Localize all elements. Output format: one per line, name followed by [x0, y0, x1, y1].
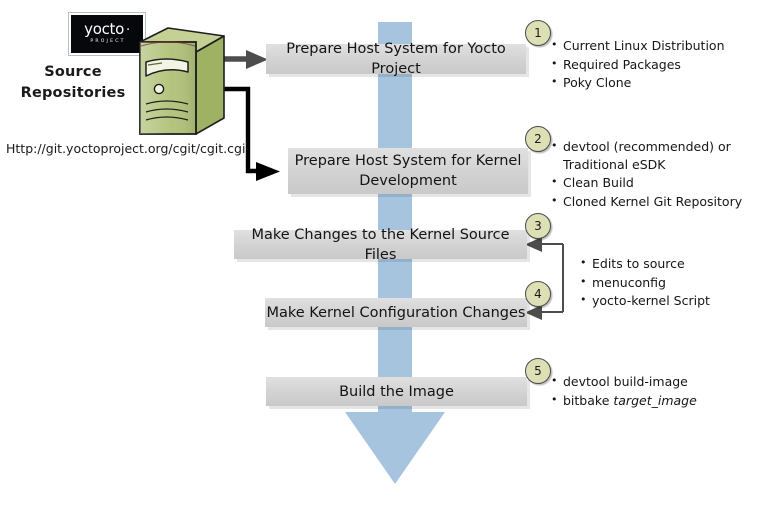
workflow-diagram: yocto· PROJECT Source Repositories Http:… [0, 0, 769, 517]
step-number-2-text: 2 [534, 132, 542, 146]
list-item: bitbake target_image [551, 392, 763, 410]
list-item: Current Linux Distribution [551, 37, 763, 55]
step-number-1-text: 1 [534, 26, 542, 40]
step-number-4: 4 [525, 281, 551, 307]
source-title-line2: Repositories [6, 83, 140, 104]
step-number-4-text: 4 [534, 287, 542, 301]
list-item: devtool build-image [551, 373, 763, 391]
step-box-3[interactable]: Make Changes to the Kernel Source Files [234, 230, 527, 259]
step-box-2-label-line2: Development [359, 173, 457, 189]
step-box-4-label: Make Kernel Configuration Changes [267, 303, 526, 323]
step-box-2-label: Prepare Host System for Kernel Developme… [295, 151, 522, 191]
step-box-4[interactable]: Make Kernel Configuration Changes [265, 298, 527, 327]
step-box-3-label: Make Changes to the Kernel Source Files [234, 225, 527, 265]
step-box-2[interactable]: Prepare Host System for Kernel Developme… [288, 148, 528, 194]
step-number-3-text: 3 [534, 219, 542, 233]
list-item: Poky Clone [551, 74, 763, 92]
step-number-5: 5 [525, 358, 551, 384]
source-title-line1: Source [6, 62, 140, 83]
list-item: Clean Build [551, 174, 763, 192]
logo-wordmark: yocto· [84, 22, 130, 38]
step-number-5-text: 5 [534, 364, 542, 378]
connector-server-to-step2 [224, 89, 280, 181]
step-5-bullets: devtool build-image bitbake target_image [551, 373, 763, 410]
step-box-1[interactable]: Prepare Host System for Yocto Project [266, 44, 526, 74]
source-repositories-title: Source Repositories [6, 62, 140, 104]
step-number-3: 3 [525, 213, 551, 239]
logo-dot: · [126, 23, 130, 38]
step-1-bullets: Current Linux Distribution Required Pack… [551, 37, 763, 93]
step-box-5-label: Build the Image [339, 382, 454, 402]
list-item: menuconfig [580, 274, 765, 292]
list-item: yocto-kernel Script [580, 292, 765, 310]
list-item: Edits to source [580, 255, 765, 273]
step-box-1-label: Prepare Host System for Yocto Project [266, 39, 526, 79]
logo-word-text: yocto [84, 20, 124, 38]
step-number-2: 2 [525, 126, 551, 152]
connector-server-to-step1 [224, 50, 268, 69]
logo-subtitle: PROJECT [90, 38, 125, 46]
step-box-5[interactable]: Build the Image [266, 377, 527, 406]
list-item: Required Packages [551, 56, 763, 74]
step-3-and-4-bullets: Edits to source menuconfig yocto-kernel … [580, 255, 765, 311]
step-2-bullets: devtool (recommended) or Traditional eSD… [551, 138, 763, 211]
step-box-2-label-line1: Prepare Host System for Kernel [295, 153, 522, 169]
step-number-1: 1 [525, 20, 551, 46]
server-tower-icon [132, 26, 230, 142]
list-item-emphasis: target_image [613, 393, 696, 408]
connector-bracket-to-step3-step4 [525, 237, 563, 320]
list-item: Cloned Kernel Git Repository [551, 193, 763, 211]
list-item: devtool (recommended) or Traditional eSD… [551, 138, 763, 173]
list-item-text: bitbake [563, 393, 613, 408]
source-repository-url: Http://git.yoctoproject.org/cgit/cgit.cg… [6, 141, 236, 157]
